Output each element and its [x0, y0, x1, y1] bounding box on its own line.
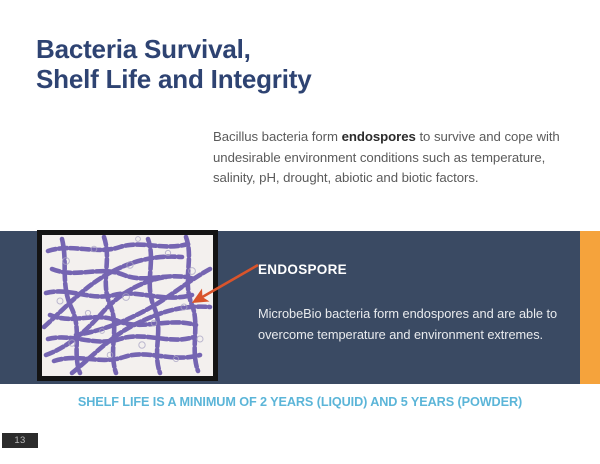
micrograph-image	[42, 235, 213, 376]
band-description: MicrobeBio bacteria form endospores and …	[258, 304, 558, 345]
title-line-2: Shelf Life and Integrity	[36, 64, 456, 94]
slide-canvas: Bacteria Survival, Shelf Life and Integr…	[0, 0, 600, 464]
intro-paragraph: Bacillus bacteria form endospores to sur…	[213, 127, 573, 189]
page-title: Bacteria Survival, Shelf Life and Integr…	[36, 34, 456, 94]
title-line-1: Bacteria Survival,	[36, 34, 456, 64]
endospore-callout-label: ENDOSPORE	[258, 262, 347, 277]
micrograph-frame	[37, 230, 218, 381]
accent-stripe	[580, 231, 600, 384]
shelf-life-statement: SHELF LIFE IS A MINIMUM OF 2 YEARS (LIQU…	[12, 394, 588, 409]
intro-emphasis-endospores: endospores	[342, 129, 416, 144]
bacteria-illustration	[42, 235, 213, 376]
intro-text-part-1: Bacillus bacteria form	[213, 129, 342, 144]
page-number-badge: 13	[2, 433, 38, 448]
